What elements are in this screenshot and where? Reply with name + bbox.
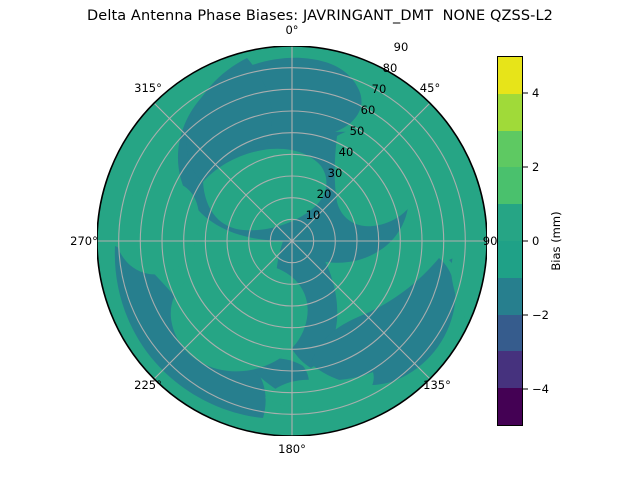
theta-tick-135: 135° bbox=[423, 378, 451, 392]
colorbar-tick-label-0: 0 bbox=[532, 234, 539, 248]
colorbar-band-9 bbox=[498, 57, 522, 94]
colorbar-band-6 bbox=[498, 167, 522, 204]
theta-tick-315: 315° bbox=[134, 81, 162, 95]
theta-tick-45: 45° bbox=[420, 81, 440, 95]
colorbar-band-0 bbox=[498, 388, 522, 425]
colorbar-tick-label-m4: −4 bbox=[532, 382, 549, 396]
r-tick-90: 90 bbox=[394, 40, 409, 54]
colorbar-band-3 bbox=[498, 278, 522, 315]
r-tick-70: 70 bbox=[372, 82, 387, 96]
theta-tick-225: 225° bbox=[134, 378, 162, 392]
colorbar: 4 2 0 −2 −4 bbox=[497, 56, 523, 426]
r-tick-80: 80 bbox=[383, 61, 398, 75]
colorbar-gradient bbox=[497, 56, 523, 426]
polar-axes: 0° 45° 90° 135° 180° 225° 270° 315° 10 2… bbox=[97, 46, 487, 436]
r-tick-60: 60 bbox=[361, 103, 376, 117]
colorbar-tick-mark-m4 bbox=[523, 389, 528, 390]
colorbar-tick-mark-2 bbox=[523, 167, 528, 168]
theta-tick-270: 270° bbox=[70, 234, 98, 248]
colorbar-band-1 bbox=[498, 351, 522, 388]
r-tick-40: 40 bbox=[339, 145, 354, 159]
page-title: Delta Antenna Phase Biases: JAVRINGANT_D… bbox=[0, 8, 640, 24]
colorbar-band-5 bbox=[498, 204, 522, 241]
colorbar-tick-mark-m2 bbox=[523, 315, 528, 316]
colorbar-tick-label-2: 2 bbox=[532, 160, 539, 174]
r-tick-30: 30 bbox=[328, 166, 343, 180]
colorbar-band-4 bbox=[498, 241, 522, 278]
r-tick-10: 10 bbox=[306, 208, 321, 222]
colorbar-band-2 bbox=[498, 315, 522, 352]
colorbar-tick-label-4: 4 bbox=[532, 86, 539, 100]
colorbar-axis-label: Bias (mm) bbox=[549, 211, 563, 270]
colorbar-band-8 bbox=[498, 94, 522, 131]
colorbar-band-7 bbox=[498, 131, 522, 168]
colorbar-tick-mark-4 bbox=[523, 93, 528, 94]
figure-canvas: Delta Antenna Phase Biases: JAVRINGANT_D… bbox=[0, 0, 640, 480]
theta-tick-180: 180° bbox=[278, 442, 306, 456]
colorbar-tick-label-m2: −2 bbox=[532, 308, 549, 322]
r-tick-50: 50 bbox=[350, 124, 365, 138]
colorbar-tick-mark-0 bbox=[523, 241, 528, 242]
theta-tick-0: 0° bbox=[285, 23, 298, 37]
r-tick-20: 20 bbox=[317, 187, 332, 201]
